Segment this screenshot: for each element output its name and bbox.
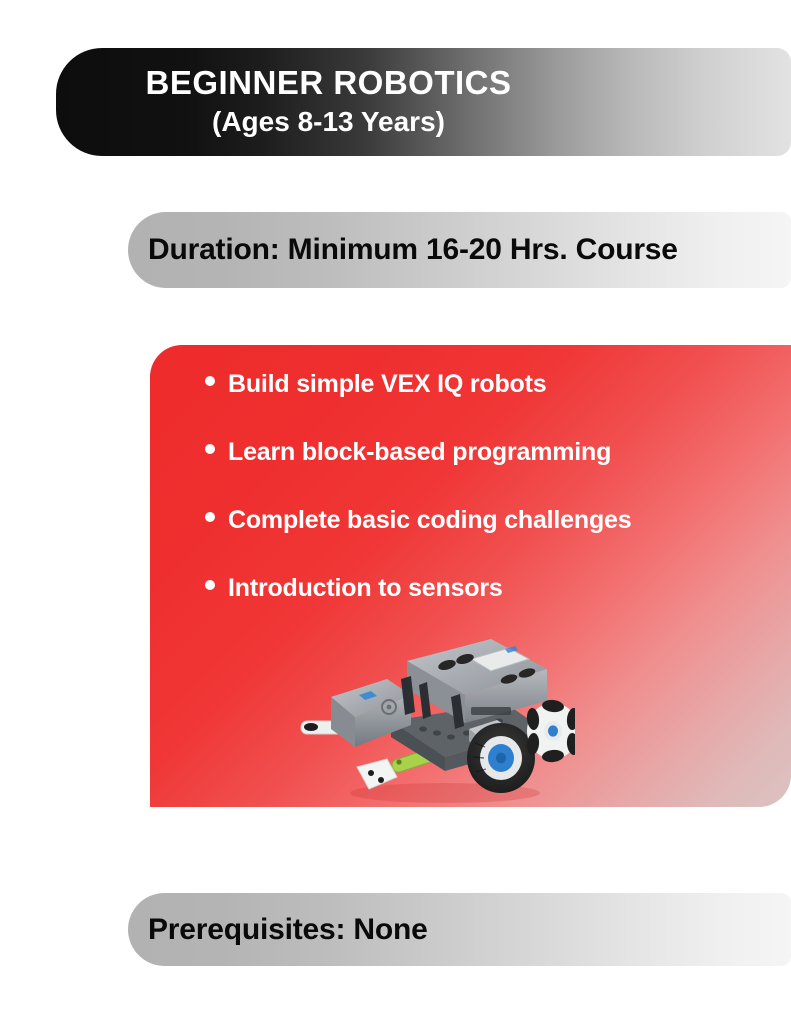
course-header-banner: BEGINNER ROBOTICS (Ages 8-13 Years): [56, 48, 791, 156]
bullet-dot-icon: [205, 512, 215, 522]
list-item-label: Learn block-based programming: [228, 440, 611, 465]
list-item-label: Complete basic coding challenges: [228, 508, 631, 533]
list-item-label: Build simple VEX IQ robots: [228, 372, 546, 397]
bullet-dot-icon: [205, 444, 215, 454]
list-item: Complete basic coding challenges: [205, 508, 631, 576]
bullet-dot-icon: [205, 580, 215, 590]
course-highlights-card: Build simple VEX IQ robots Learn block-b…: [150, 345, 791, 807]
course-highlights-list: Build simple VEX IQ robots Learn block-b…: [205, 372, 631, 644]
prerequisites-banner: Prerequisites: None: [128, 893, 791, 966]
page-title: BEGINNER ROBOTICS: [145, 66, 511, 101]
vex-iq-robot-image: [295, 625, 575, 805]
page-subtitle-age-range: (Ages 8-13 Years): [212, 107, 445, 138]
list-item: Learn block-based programming: [205, 440, 631, 508]
bullet-dot-icon: [205, 376, 215, 386]
list-item: Build simple VEX IQ robots: [205, 372, 631, 440]
duration-banner: Duration: Minimum 16-20 Hrs. Course: [128, 212, 791, 288]
prerequisites-label: Prerequisites: None: [148, 913, 428, 947]
robot-drive-wheel: [467, 723, 535, 793]
duration-label: Duration: Minimum 16-20 Hrs. Course: [148, 233, 678, 267]
poster-canvas: BEGINNER ROBOTICS (Ages 8-13 Years) Dura…: [0, 0, 791, 1024]
robot-omni-wheel: [526, 699, 575, 763]
list-item-label: Introduction to sensors: [228, 576, 503, 601]
